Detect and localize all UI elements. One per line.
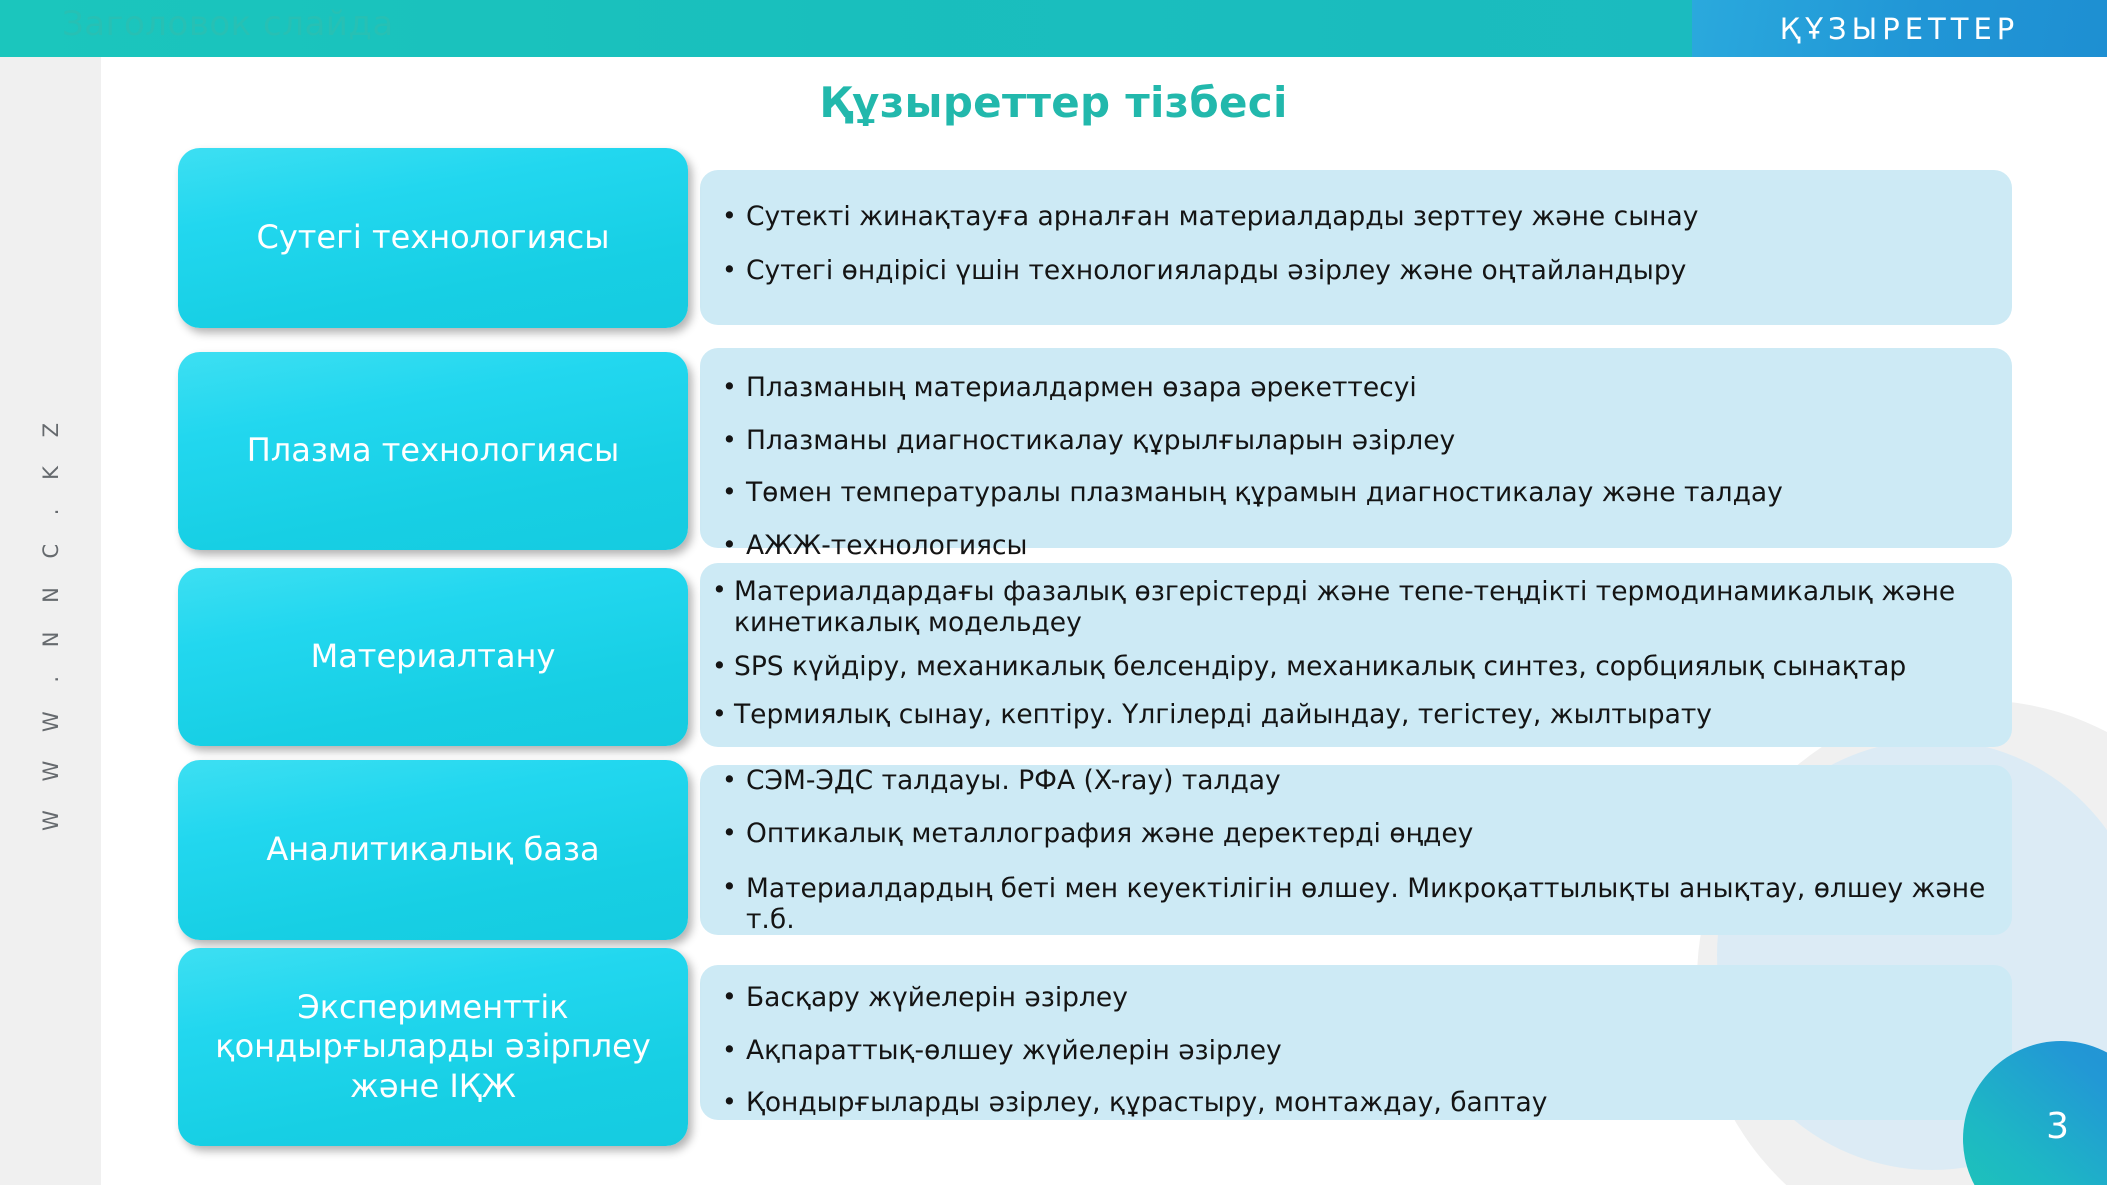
bullet-list: СЭМ-ЭДС талдауы. РФА (X-ray) талдау Опти… [716, 768, 2012, 936]
list-item: Материалдардағы фазалық өзгерістерді жән… [712, 576, 2008, 639]
slide-title-placeholder: Заголовок слайда [62, 4, 394, 44]
category-label-box[interactable]: Аналитикалық база [178, 760, 688, 940]
list-item: Термиялық сынау, кептіру. Үлгілерді дайы… [712, 702, 2008, 729]
category-label-box[interactable]: Эксперименттік қондырғыларды әзірплеу жә… [178, 948, 688, 1146]
section-banner: ҚҰЗЫРЕТТЕР [1692, 0, 2107, 57]
slide: Заголовок слайда ҚҰЗЫРЕТТЕР W W W . N N … [0, 0, 2107, 1185]
category-label: Сутегі технологиясы [243, 218, 624, 257]
list-item: Плазманы диагностикалау құрылғыларын әзі… [716, 428, 2006, 455]
list-item: Басқару жүйелерін әзірлеу [716, 985, 2006, 1012]
page-number: 3 [2046, 1106, 2069, 1147]
website-vertical: W W W . N N C . K Z [0, 57, 101, 1185]
list-item: АЖЖ-технологиясы [716, 533, 2006, 560]
list-item: Материалдардың беті мен кеуектілігін өлш… [716, 873, 2012, 936]
website-label: W W W . N N C . K Z [39, 412, 63, 831]
competency-rows: Сутекті жинақтауға арналған материалдард… [0, 0, 2107, 1185]
category-label-box[interactable]: Сутегі технологиясы [178, 148, 688, 328]
bullet-list: Басқару жүйелерін әзірлеу Ақпараттық-өлш… [716, 985, 2006, 1117]
category-label: Плазма технологиясы [233, 431, 634, 470]
list-item: Оптикалық металлография және деректерді … [716, 821, 2012, 848]
list-item: Қондырғыларды әзірлеу, құрастыру, монтаж… [716, 1090, 2006, 1117]
list-item: SPS күйдіру, механикалық белсендіру, мех… [712, 654, 2008, 681]
list-item: Ақпараттық-өлшеу жүйелерін әзірлеу [716, 1038, 2006, 1065]
category-label: Эксперименттік қондырғыларды әзірплеу жә… [178, 988, 688, 1105]
list-item: Төмен температуралы плазманың құрамын ди… [716, 480, 2006, 507]
list-item: СЭМ-ЭДС талдауы. РФА (X-ray) талдау [716, 768, 2012, 795]
category-label-box[interactable]: Плазма технологиясы [178, 352, 688, 550]
category-label: Аналитикалық база [252, 830, 613, 869]
category-label: Материалтану [297, 637, 570, 676]
category-label-box[interactable]: Материалтану [178, 568, 688, 746]
list-item: Сутекті жинақтауға арналған материалдард… [716, 204, 2006, 231]
bullet-list: Плазманың материалдармен өзара әрекеттес… [716, 375, 2006, 559]
section-banner-label: ҚҰЗЫРЕТТЕР [1780, 12, 2020, 46]
bullet-list: Материалдардағы фазалық өзгерістерді жән… [712, 576, 2008, 729]
list-item: Плазманың материалдармен өзара әрекеттес… [716, 375, 2006, 402]
list-item: Сутегі өндірісі үшін технологияларды әзі… [716, 258, 2006, 285]
bullet-list: Сутекті жинақтауға арналған материалдард… [716, 204, 2006, 284]
left-rail: W W W . N N C . K Z [0, 57, 101, 1185]
